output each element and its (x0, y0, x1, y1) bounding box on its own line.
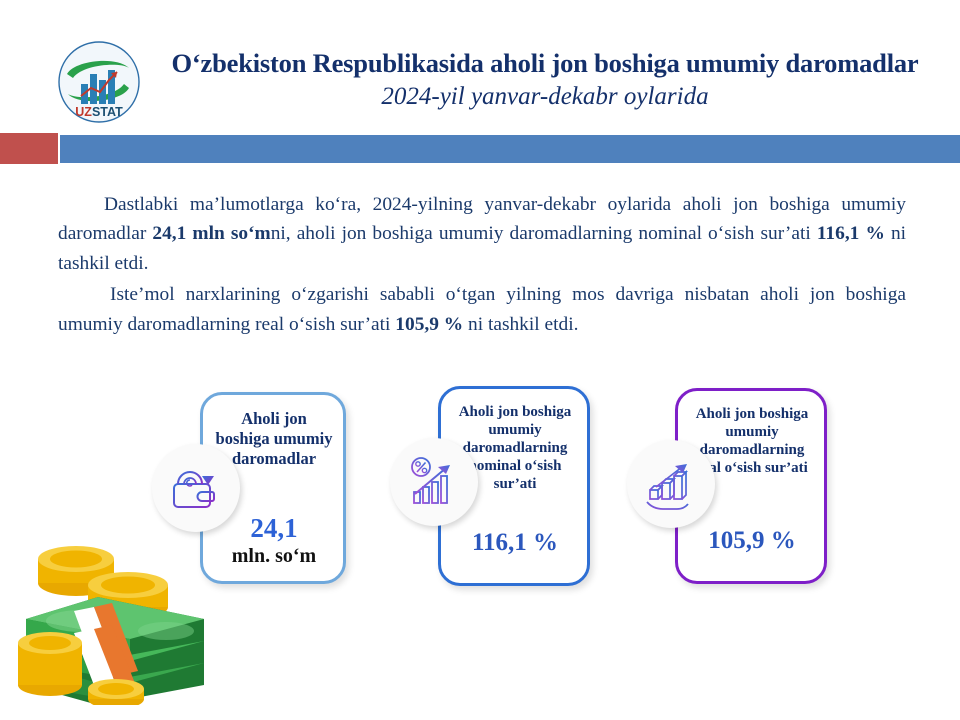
page-subtitle: 2024-yil yanvar-dekabr oylarida (150, 81, 940, 114)
page-header: UZSTAT O‘zbekiston Respublikasida aholi … (0, 0, 960, 128)
card-label: Aholi jon boshiga umumiy daromadlar (213, 409, 335, 468)
paragraph-2: Iste’mol narxlarining o‘zgarishi sababli… (58, 280, 906, 339)
card-unit: mln. so‘m (209, 545, 339, 568)
p2-part2: ni tashkil etdi. (463, 314, 578, 335)
money-stack-illustration (8, 545, 223, 705)
stat-card-nominal-growth[interactable]: Aholi jon boshiga umumiy daromadlarning … (390, 386, 605, 594)
body-text: Dastlabki ma’lumotlarga ko‘ra, 2024-yiln… (58, 190, 906, 339)
uzstat-logo: UZSTAT (57, 40, 141, 124)
p1-bold-income: 24,1 mln so‘m (152, 223, 270, 244)
hand-growth-bars-icon (627, 440, 715, 528)
p1-part2: ni, aholi jon boshiga umumiy daromadlarn… (271, 223, 817, 244)
p1-bold-nominal: 116,1 % (817, 223, 885, 244)
page-title: O‘zbekiston Respublikasida aholi jon bos… (150, 48, 940, 79)
card-value: 105,9 % (684, 527, 820, 555)
growth-percent-chart-icon (390, 438, 478, 526)
banner-bar-blue (60, 135, 960, 163)
banner-accent-red (0, 133, 58, 164)
wallet-income-icon (152, 444, 240, 532)
svg-text:UZSTAT: UZSTAT (75, 105, 123, 119)
p2-bold-real: 105,9 % (395, 314, 463, 335)
stat-card-real-growth[interactable]: Aholi jon boshiga umumiy daromadlarning … (627, 388, 842, 592)
title-block: O‘zbekiston Respublikasida aholi jon bos… (150, 48, 940, 114)
card-value: 116,1 % (447, 529, 583, 557)
paragraph-1: Dastlabki ma’lumotlarga ko‘ra, 2024-yiln… (58, 190, 906, 278)
